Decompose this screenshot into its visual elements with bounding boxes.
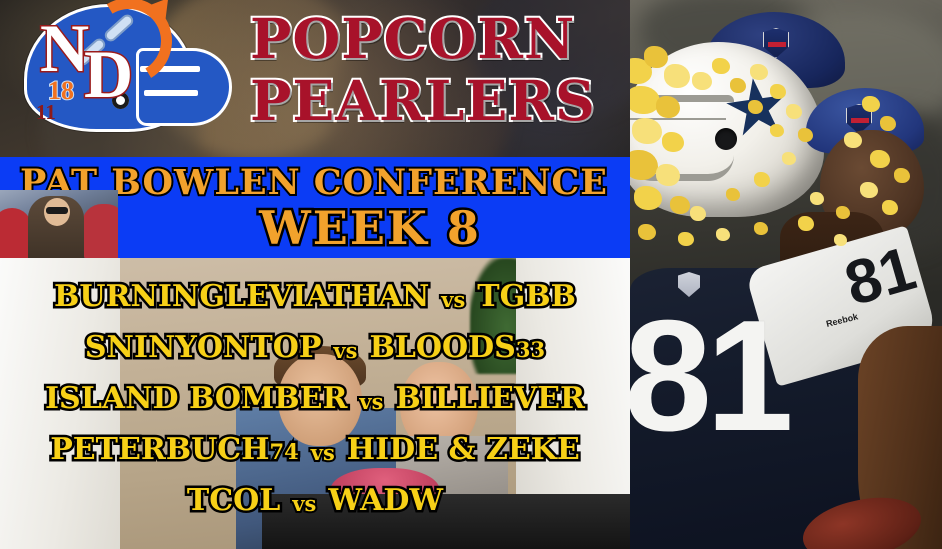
matchup-row: TCOL vs WADW	[0, 476, 630, 527]
helmet-letter-d: D	[84, 40, 133, 108]
helmet-number-11: 11	[36, 100, 56, 125]
poster-title: POPCORN PEARLERS	[250, 8, 640, 148]
matchup-away-team: BILLIEVER	[395, 382, 585, 418]
matchup-home-team: BURNINGLEVIATHAN	[54, 280, 429, 316]
jersey-number-large: 81	[630, 296, 754, 466]
matchup-row: BURNINGLEVIATHAN vs TGBB	[0, 272, 630, 323]
helmet-earhole	[715, 128, 737, 150]
vs-label: vs	[292, 492, 316, 516]
matchup-row: ISLAND BOMBER vs BILLIEVER	[0, 374, 630, 425]
title-line-1: POPCORN	[250, 8, 640, 70]
matchup-row: SNINYONTOP vs BLOODS33	[0, 323, 630, 374]
title-line-2: PEARLERS	[250, 70, 640, 132]
team-helmet-logo: N D 18 11	[8, 0, 238, 148]
week-title: WEEK 8	[120, 202, 620, 254]
vs-label: vs	[441, 288, 465, 312]
matchup-home-team: SNINYONTOP	[85, 331, 322, 367]
matchup-list: BURNINGLEVIATHAN vs TGBB SNINYONTOP vs B…	[0, 266, 630, 549]
player-popcorn-photo: 81 81 Reebok	[630, 0, 942, 549]
matchup-away-team: BLOODS33	[369, 331, 545, 367]
matchup-away-team: TGBB	[477, 280, 576, 316]
matchup-away-team: WADW	[328, 484, 443, 520]
matchup-home-team: TCOL	[187, 484, 280, 520]
vs-label: vs	[311, 441, 335, 465]
matchup-home-team: PETERBUCH74	[50, 433, 299, 469]
matchup-away-team: HIDE & ZEKE	[347, 433, 580, 469]
vs-label: vs	[333, 339, 357, 363]
vs-label: vs	[359, 390, 383, 414]
popcorn-pearlers-poster: 81 81 Reebok	[0, 0, 942, 549]
matchup-row: PETERBUCH74 vs HIDE & ZEKE	[0, 425, 630, 476]
pat-bowlen-inset-photo	[0, 190, 118, 268]
helmet-letter-n: N	[40, 14, 89, 82]
matchup-home-team: ISLAND BOMBER	[45, 382, 347, 418]
